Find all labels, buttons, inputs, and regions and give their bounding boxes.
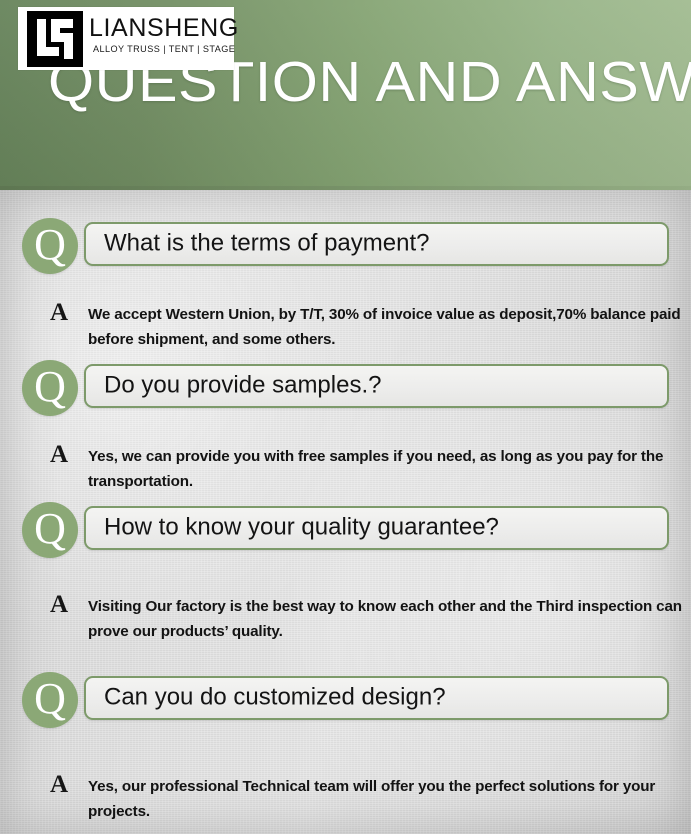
answer-text: Yes, we can provide you with free sample… [88, 444, 686, 494]
question-line: Q What is the terms of payment? [0, 218, 691, 274]
answer-badge: A [50, 772, 76, 798]
faq-item: Q What is the terms of payment? A We acc… [0, 218, 691, 274]
faq-item: Q How to know your quality guarantee? A … [0, 502, 691, 558]
answer-text: We accept Western Union, by T/T, 30% of … [88, 302, 686, 352]
question-line: Q How to know your quality guarantee? [0, 502, 691, 558]
answer-badge: A [50, 442, 76, 468]
question-text: Do you provide samples.? [104, 372, 381, 398]
logo-tagline: ALLOY TRUSS | TENT | STAGE [93, 44, 235, 56]
question-box[interactable]: Can you do customized design? [84, 676, 669, 720]
faq-item: Q Do you provide samples.? A Yes, we can… [0, 360, 691, 416]
answer-badge: A [50, 592, 76, 618]
company-logo: LIANSHENG ALLOY TRUSS | TENT | STAGE [18, 7, 234, 70]
logo-text-block: LIANSHENG ALLOY TRUSS | TENT | STAGE [89, 7, 239, 56]
answer-text: Visiting Our factory is the best way to … [88, 594, 686, 644]
faq-page: QUESTION AND ANSWER LIANSHENG ALLOY TRUS… [0, 0, 691, 834]
question-box[interactable]: How to know your quality guarantee? [84, 506, 669, 550]
question-badge: Q [22, 502, 78, 558]
question-badge: Q [22, 672, 78, 728]
answer-badge: A [50, 300, 76, 326]
question-text: What is the terms of payment? [104, 230, 429, 256]
question-box[interactable]: Do you provide samples.? [84, 364, 669, 408]
logo-company-name: LIANSHENG [89, 15, 239, 41]
question-badge: Q [22, 218, 78, 274]
question-line: Q Can you do customized design? [0, 672, 691, 728]
question-text: How to know your quality guarantee? [104, 514, 499, 540]
ls-monogram-icon [27, 11, 83, 67]
question-badge: Q [22, 360, 78, 416]
answer-text: Yes, our professional Technical team wil… [88, 774, 686, 824]
question-box[interactable]: What is the terms of payment? [84, 222, 669, 266]
question-text: Can you do customized design? [104, 684, 446, 710]
question-line: Q Do you provide samples.? [0, 360, 691, 416]
faq-item: Q Can you do customized design? A Yes, o… [0, 672, 691, 728]
header-divider [0, 186, 691, 190]
